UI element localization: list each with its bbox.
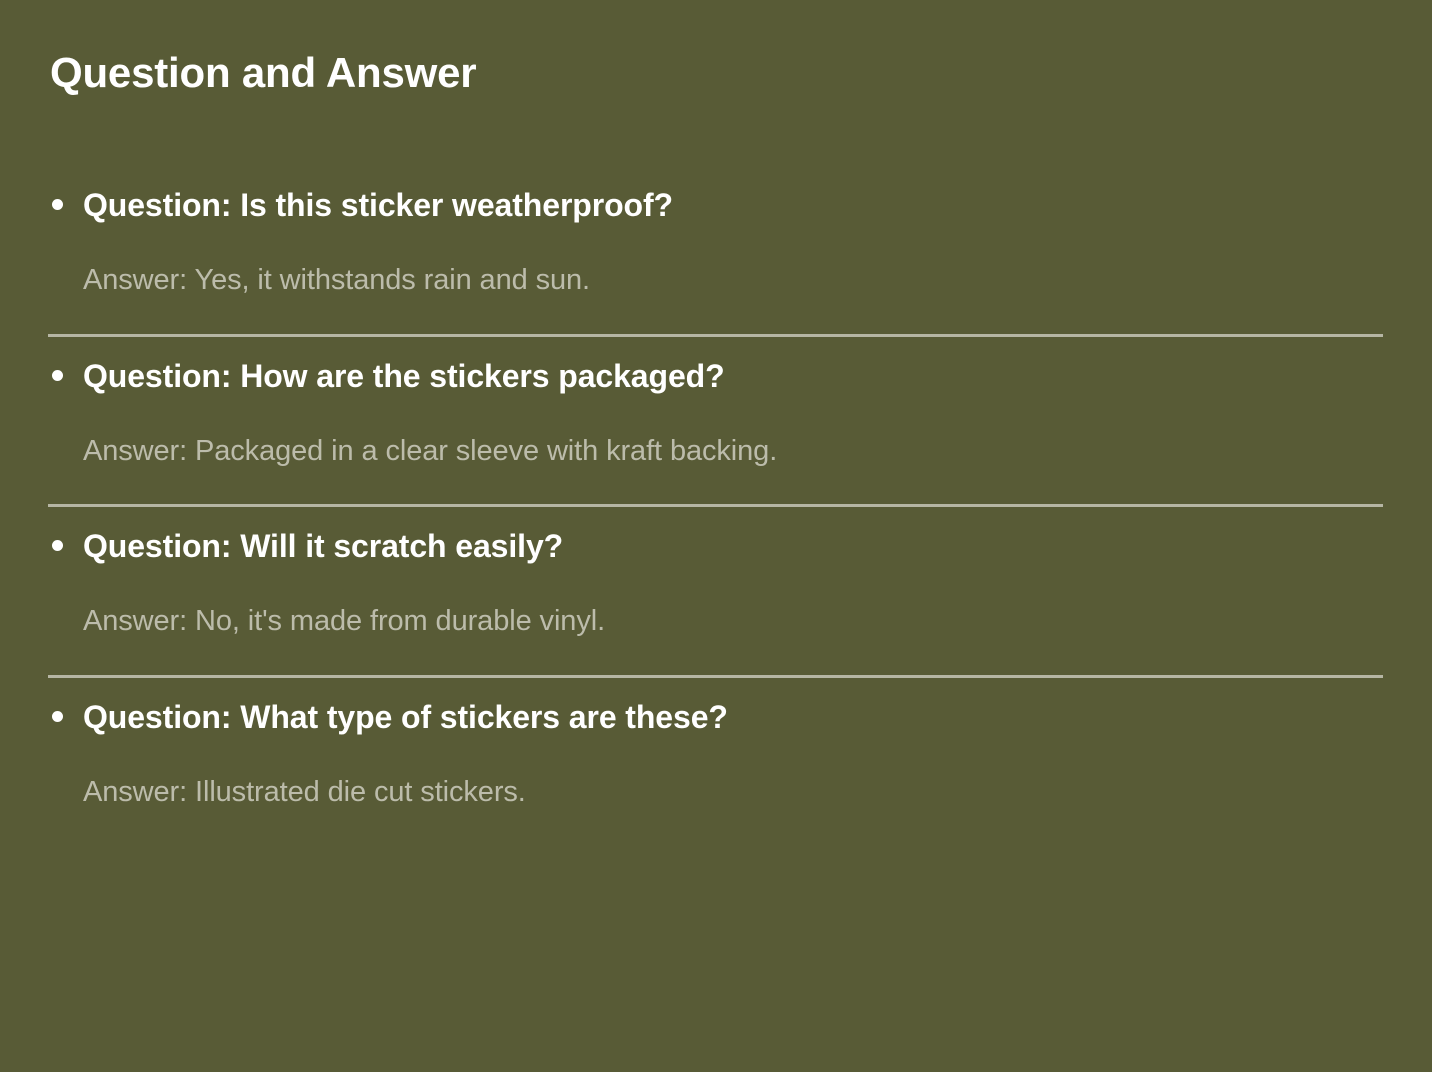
faq-answer: Answer: No, it's made from durable vinyl… bbox=[83, 567, 1382, 641]
bullet-dot-icon bbox=[52, 199, 63, 210]
list-item: Question: Is this sticker weatherproof? … bbox=[0, 163, 1432, 334]
bullet-dot-icon bbox=[52, 540, 63, 551]
faq-panel: Question and Answer Question: Is this st… bbox=[0, 0, 1432, 1072]
list-item: Question: What type of stickers are thes… bbox=[0, 675, 1432, 846]
faq-list: Question: Is this sticker weatherproof? … bbox=[0, 163, 1432, 846]
faq-answer: Answer: Illustrated die cut stickers. bbox=[83, 738, 1382, 812]
bullet-dot-icon bbox=[52, 711, 63, 722]
page-title: Question and Answer bbox=[50, 48, 476, 98]
bullet-dot-icon bbox=[52, 370, 63, 381]
faq-answer: Answer: Packaged in a clear sleeve with … bbox=[83, 397, 1382, 471]
faq-question: Question: What type of stickers are thes… bbox=[83, 697, 1382, 738]
faq-question: Question: Is this sticker weatherproof? bbox=[83, 185, 1382, 226]
faq-answer: Answer: Yes, it withstands rain and sun. bbox=[83, 226, 1382, 300]
list-item: Question: How are the stickers packaged?… bbox=[0, 334, 1432, 505]
faq-question: Question: How are the stickers packaged? bbox=[83, 356, 1382, 397]
list-item: Question: Will it scratch easily? Answer… bbox=[0, 504, 1432, 675]
faq-question: Question: Will it scratch easily? bbox=[83, 526, 1382, 567]
